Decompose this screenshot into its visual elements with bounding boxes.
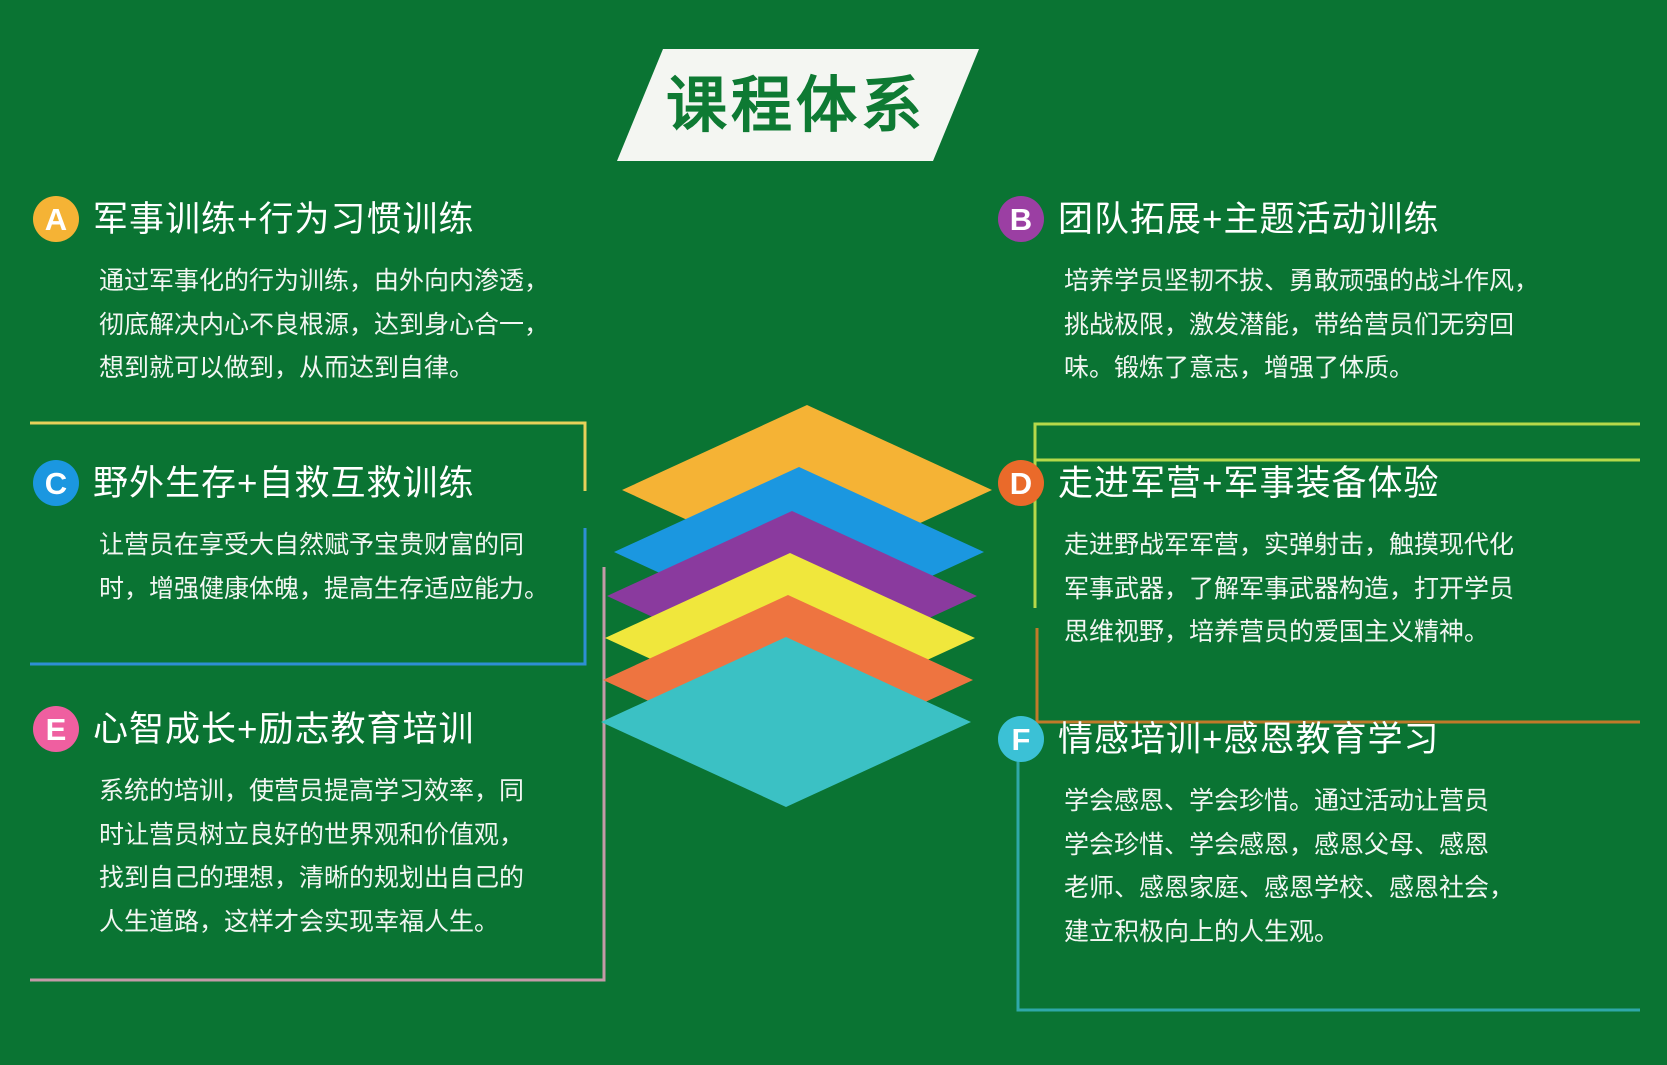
section-f-badge: F: [998, 716, 1044, 762]
section-f-title: 情感培训+感恩教育学习: [1058, 722, 1439, 757]
section-d-line: 军事武器，了解军事武器构造，打开学员: [1064, 568, 1514, 612]
title-banner: 课程体系: [617, 49, 979, 161]
section-b-badge: B: [998, 196, 1044, 242]
section-d-header: D 走进军营+军事装备体验: [998, 460, 1514, 506]
section-e-line: 找到自己的理想，清晰的规划出自己的: [99, 857, 524, 901]
section-b-title: 团队拓展+主题活动训练: [1058, 202, 1439, 237]
stack-layer: [601, 637, 971, 807]
section-f-body: 学会感恩、学会珍惜。通过活动让营员 学会珍惜、学会感恩，感恩父母、感恩 老师、感…: [998, 780, 1514, 954]
section-a: A 军事训练+行为习惯训练 通过军事化的行为训练，由外向内渗透， 彻底解决内心不…: [33, 196, 549, 391]
section-f: F 情感培训+感恩教育学习 学会感恩、学会珍惜。通过活动让营员 学会珍惜、学会感…: [998, 716, 1514, 954]
section-d: D 走进军营+军事装备体验 走进野战军军营，实弹射击，触摸现代化 军事武器，了解…: [998, 460, 1514, 655]
section-b-line: 味。锻炼了意志，增强了体质。: [1064, 347, 1539, 391]
section-a-line: 想到就可以做到，从而达到自律。: [99, 347, 549, 391]
section-d-badge: D: [998, 460, 1044, 506]
section-d-body: 走进野战军军营，实弹射击，触摸现代化 军事武器，了解军事武器构造，打开学员 思维…: [998, 524, 1514, 655]
section-a-line: 彻底解决内心不良根源，达到身心合一，: [99, 304, 549, 348]
section-d-line: 走进野战军军营，实弹射击，触摸现代化: [1064, 524, 1514, 568]
section-e-badge: E: [33, 706, 79, 752]
section-e-line: 时让营员树立良好的世界观和价值观，: [99, 814, 524, 858]
section-c: C 野外生存+自救互救训练 让营员在享受大自然赋予宝贵财富的同 时，增强健康体魄…: [33, 460, 549, 611]
page-title: 课程体系: [666, 75, 926, 136]
section-b-body: 培养学员坚韧不拔、勇敢顽强的战斗作风， 挑战极限，激发潜能，带给营员们无穷回 味…: [998, 260, 1539, 391]
section-a-line: 通过军事化的行为训练，由外向内渗透，: [99, 260, 549, 304]
layer-teal-shape: [601, 637, 971, 807]
section-e-line: 系统的培训，使营员提高学习效率，同: [99, 770, 524, 814]
section-b: B 团队拓展+主题活动训练 培养学员坚韧不拔、勇敢顽强的战斗作风， 挑战极限，激…: [998, 196, 1539, 391]
section-b-header: B 团队拓展+主题活动训练: [998, 196, 1539, 242]
section-a-header: A 军事训练+行为习惯训练: [33, 196, 549, 242]
section-e-line: 人生道路，这样才会实现幸福人生。: [99, 901, 524, 945]
section-c-title: 野外生存+自救互救训练: [93, 466, 474, 501]
section-f-line: 老师、感恩家庭、感恩学校、感恩社会，: [1064, 867, 1514, 911]
section-c-line: 时，增强健康体魄，提高生存适应能力。: [99, 568, 549, 612]
infographic-root: 课程体系 A 军事训练+行为习惯训练 通过军事化的行为训练，由外向内渗透， 彻: [0, 0, 1667, 1065]
section-a-title: 军事训练+行为习惯训练: [93, 202, 474, 237]
section-f-line: 建立积极向上的人生观。: [1064, 911, 1514, 955]
section-f-line: 学会感恩、学会珍惜。通过活动让营员: [1064, 780, 1514, 824]
section-c-badge: C: [33, 460, 79, 506]
section-e-body: 系统的培训，使营员提高学习效率，同 时让营员树立良好的世界观和价值观， 找到自己…: [33, 770, 524, 944]
section-c-line: 让营员在享受大自然赋予宝贵财富的同: [99, 524, 549, 568]
section-e: E 心智成长+励志教育培训 系统的培训，使营员提高学习效率，同 时让营员树立良好…: [33, 706, 524, 944]
section-f-header: F 情感培训+感恩教育学习: [998, 716, 1514, 762]
section-b-line: 培养学员坚韧不拔、勇敢顽强的战斗作风，: [1064, 260, 1539, 304]
section-a-body: 通过军事化的行为训练，由外向内渗透， 彻底解决内心不良根源，达到身心合一， 想到…: [33, 260, 549, 391]
section-a-badge: A: [33, 196, 79, 242]
section-d-line: 思维视野，培养营员的爱国主义精神。: [1064, 611, 1514, 655]
section-c-body: 让营员在享受大自然赋予宝贵财富的同 时，增强健康体魄，提高生存适应能力。: [33, 524, 549, 611]
section-f-line: 学会珍惜、学会感恩，感恩父母、感恩: [1064, 824, 1514, 868]
layer-stack-graphic: [597, 405, 1017, 780]
section-b-line: 挑战极限，激发潜能，带给营员们无穷回: [1064, 304, 1539, 348]
section-d-title: 走进军营+军事装备体验: [1058, 466, 1439, 501]
section-e-title: 心智成长+励志教育培训: [93, 712, 474, 747]
section-e-header: E 心智成长+励志教育培训: [33, 706, 524, 752]
section-c-header: C 野外生存+自救互救训练: [33, 460, 549, 506]
